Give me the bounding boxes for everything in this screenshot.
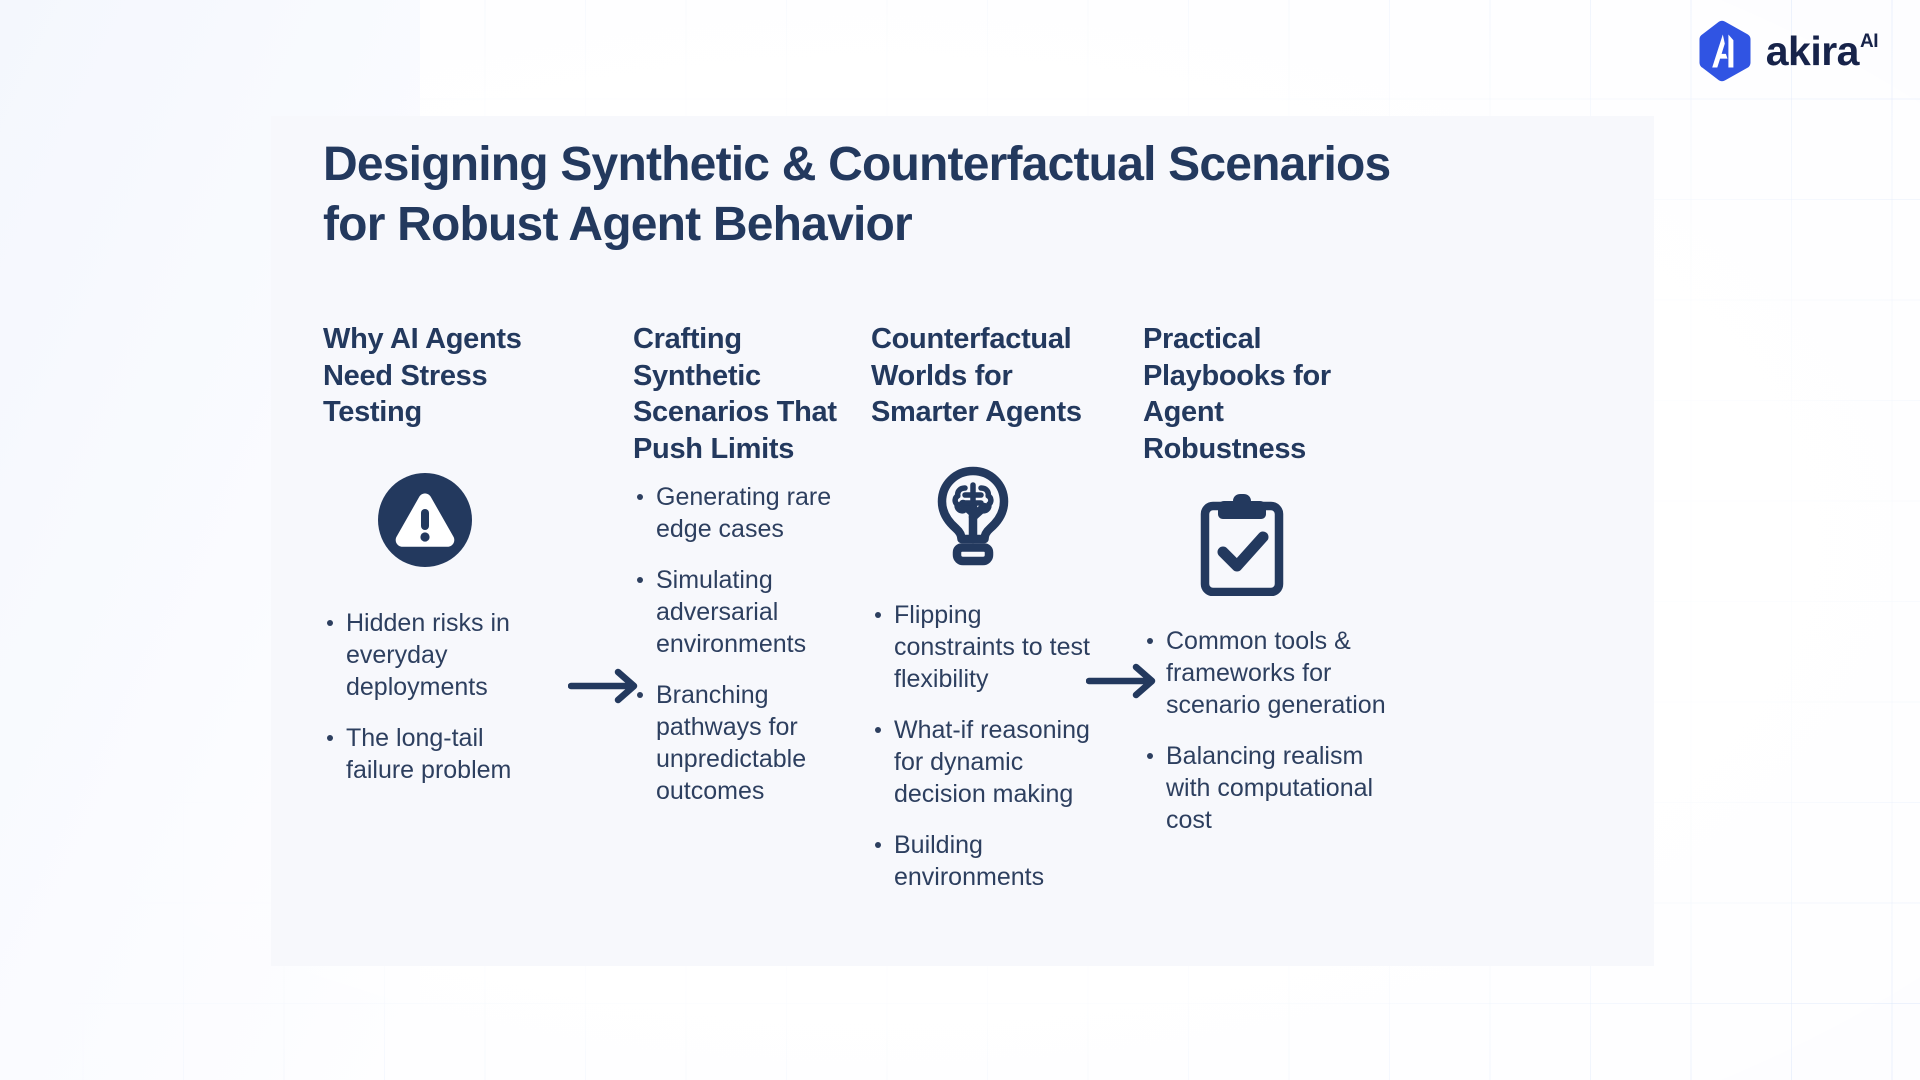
column-bullet-list: Common tools & frameworks for scenario g… [1143,625,1393,836]
column-practical-playbooks: Practical Playbooks for Agent Robustness… [1143,321,1393,836]
column-heading: Practical Playbooks for Agent Robustness [1143,321,1393,467]
brand-logo[interactable]: akira AI [1697,20,1878,82]
list-item: Hidden risks in everyday deployments [323,607,555,703]
column-crafting-synthetic-scenarios: Crafting Synthetic Scenarios That Push L… [633,321,843,807]
columns-container: Why AI Agents Need Stress Testing Hidden… [323,321,1613,961]
clipboard-check-icon [1183,489,1301,599]
list-item: Flipping constraints to test flexibility [871,599,1109,695]
list-item: Generating rare edge cases [633,481,843,545]
brand-superscript: AI [1860,32,1878,51]
list-item: Common tools & frameworks for scenario g… [1143,625,1393,721]
list-item: The long-tail failure problem [323,722,555,786]
list-item: Building environments [871,829,1109,893]
akira-hexagon-logo-icon [1697,20,1753,82]
column-heading: Counterfactual Worlds for Smarter Agents [871,321,1109,431]
column-why-ai-agents-need-stress-testing: Why AI Agents Need Stress Testing Hidden… [323,321,555,786]
brand-name: akira [1766,31,1859,72]
content-card: Designing Synthetic & Counterfactual Sce… [271,116,1654,966]
column-heading: Why AI Agents Need Stress Testing [323,321,555,431]
column-bullet-list: Generating rare edge cases Simulating ad… [633,481,843,807]
list-item: Simulating adversarial environments [633,564,843,660]
column-bullet-list: Flipping constraints to test flexibility… [871,599,1109,893]
arrow-right-icon [568,666,644,706]
column-bullet-list: Hidden risks in everyday deployments The… [323,607,555,786]
lightbulb-brain-icon [914,461,1032,571]
list-item: What-if reasoning for dynamic decision m… [871,714,1109,810]
brand-wordmark: akira AI [1766,31,1878,72]
list-item: Branching pathways for unpredictable out… [633,679,843,807]
warning-triangle-circle-icon [366,465,484,575]
arrow-right-icon [1086,661,1162,701]
column-heading: Crafting Synthetic Scenarios That Push L… [633,321,843,467]
column-counterfactual-worlds: Counterfactual Worlds for Smarter Agents [871,321,1109,893]
list-item: Balancing realism with computational cos… [1143,740,1393,836]
page-title: Designing Synthetic & Counterfactual Sce… [323,135,1443,255]
